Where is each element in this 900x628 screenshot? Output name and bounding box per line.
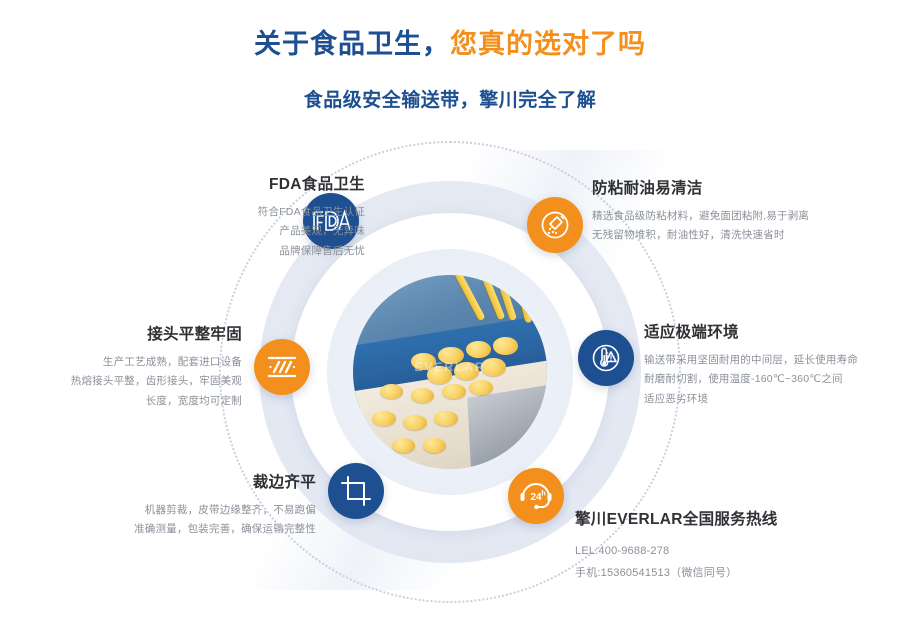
feature-line: 无残留物堆积，耐油性好，清洗快速省时 [592, 226, 892, 245]
page-title: 关于食品卫生，您真的选对了吗 [0, 28, 900, 60]
photo-cookie [403, 415, 426, 431]
svg-text:24: 24 [530, 492, 542, 503]
photo-cookie [469, 380, 492, 396]
feature-text-cut-edge: 裁边齐平 机器剪裁，皮带边缘整齐，不易跑偏 准确测量，包装完善，确保运输完整性 [0, 470, 316, 540]
headset-24h-icon: 24 h [508, 468, 564, 524]
infographic-canvas: 关于食品卫生，您真的选对了吗 食品级安全输送带，擎川完全了解 EVER [0, 0, 900, 628]
feature-text-temperature: 适应极端环境 输送带采用坚固耐用的中间层，延长使用寿命 耐磨耐切割，使用温度-1… [644, 320, 900, 409]
feature-text-hotline: 擎川EVERLAR全国服务热线 LEL:400-9688-278 手机:1536… [575, 507, 900, 584]
crop-edge-icon [328, 463, 384, 519]
hotline-mobile: 手机:15360541513（微信同号） [575, 562, 900, 584]
feature-line: 品牌保障售后无忧 [0, 242, 365, 261]
photo-cookie [434, 411, 457, 427]
feature-line: 符合FDA食品卫生认证 [0, 203, 365, 222]
photo-cookie [466, 341, 491, 358]
hotline-tel: LEL:400-9688-278 [575, 540, 900, 562]
spray-clean-icon [527, 197, 583, 253]
feature-line: 准确测量，包装完善，确保运输完整性 [0, 520, 316, 539]
feature-heading: 防粘耐油易清洁 [592, 176, 892, 198]
page-subtitle: 食品级安全输送带，擎川完全了解 [0, 85, 900, 112]
thermometer-warning-icon [578, 330, 634, 386]
feature-line: 热熔接头平整，齿形接头，牢固美观 [0, 372, 242, 391]
feature-text-clean: 防粘耐油易清洁 精选食品级防粘材料，避免面团粘附,易于剥离 无残留物堆积，耐油性… [592, 176, 892, 246]
feature-line: 生产工艺成熟，配套进口设备 [0, 353, 242, 372]
feature-heading: 裁边齐平 [0, 470, 316, 492]
svg-text:h: h [541, 491, 545, 498]
feature-line: 输送带采用坚固耐用的中间层，延长使用寿命 [644, 351, 900, 370]
photo-machine-frame [468, 384, 547, 469]
belt-seam-icon [254, 339, 310, 395]
feature-line: 产品美观，无异味 [0, 222, 365, 241]
center-product-photo: EVERLAR [353, 275, 547, 469]
photo-cookie [493, 337, 518, 354]
page-title-main: 关于食品卫生， [254, 29, 450, 59]
feature-heading: FDA食品卫生 [0, 172, 365, 194]
feature-text-fda: FDA食品卫生 符合FDA食品卫生认证 产品美观，无异味 品牌保障售后无忧 [0, 172, 365, 261]
feature-line: 适应恶劣环境 [644, 390, 900, 409]
feature-heading: 擎川EVERLAR全国服务热线 [575, 507, 900, 529]
feature-text-seam: 接头平整牢固 生产工艺成熟，配套进口设备 热熔接头平整，齿形接头，牢固美观 长度… [0, 322, 242, 411]
page-title-accent: 您真的选对了吗 [450, 29, 646, 59]
photo-cookie [372, 411, 395, 427]
feature-line: 耐磨耐切割，使用温度-160℃~360℃之间 [644, 370, 900, 389]
feature-line: 机器剪裁，皮带边缘整齐，不易跑偏 [0, 501, 316, 520]
feature-line: 精选食品级防粘材料，避免面团粘附,易于剥离 [592, 207, 892, 226]
feature-line: 长度，宽度均可定制 [0, 392, 242, 411]
photo-cookie [442, 384, 465, 400]
header: 关于食品卫生，您真的选对了吗 食品级安全输送带，擎川完全了解 [0, 0, 900, 112]
feature-heading: 适应极端环境 [644, 320, 900, 342]
photo-watermark: EVERLAR [369, 360, 532, 374]
feature-heading: 接头平整牢固 [0, 322, 242, 344]
